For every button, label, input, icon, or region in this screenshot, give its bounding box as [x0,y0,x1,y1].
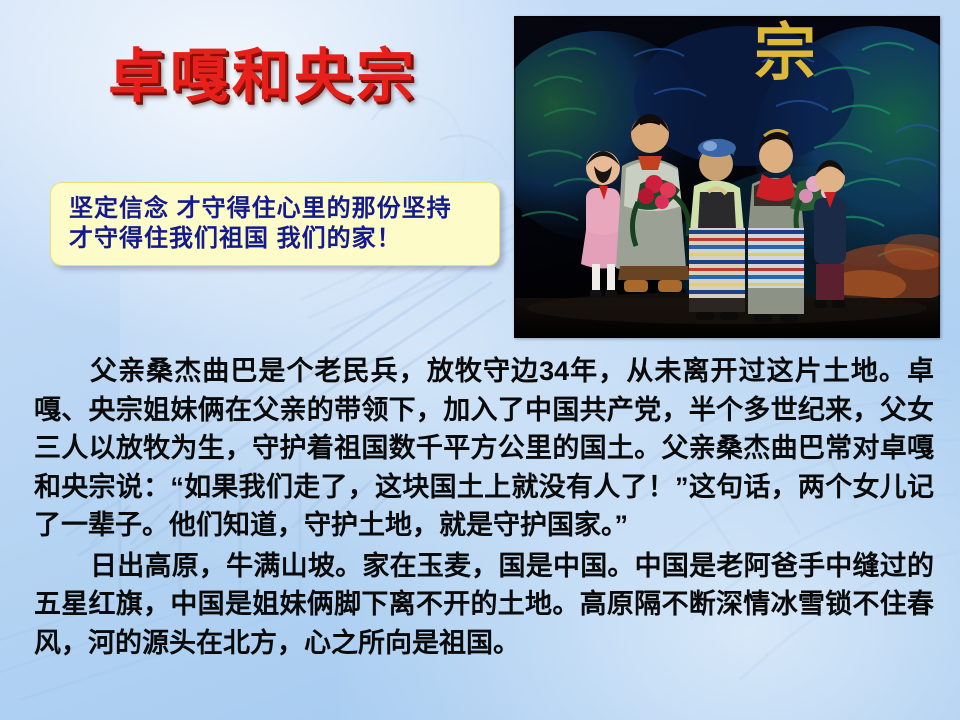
callout-line-1: 坚定信念 才守得住心里的那份坚持 [69,194,499,224]
photo-striped-apron-elder [689,228,745,312]
stage-photo-illustration: 宗 [514,16,940,338]
stage-photograph: 宗 [514,16,940,338]
page-title: 卓嘎和央宗 [108,48,418,106]
body-paragraph-2: 日出高原，牛满山坡。家在玉麦，国是中国。中国是老阿爸手中缝过的五星红旗，中国是姐… [34,547,934,663]
photo-striped-skirt-woman [748,228,804,314]
callout-line-2: 才守得住我们祖国 我们的家！ [69,224,499,254]
body-paragraph-1: 父亲桑杰曲巴是个老民兵，放牧守边34年，从未离开过这片土地。卓嘎、央宗姐妹俩在父… [34,352,934,545]
photo-person-boy-dark-jacket [814,160,846,308]
slide-canvas: 卓嘎和央宗 坚定信念 才守得住心里的那份坚持 才守得住我们祖国 我们的家！ [0,0,960,720]
stage-banner-character: 宗 [754,19,816,88]
quote-callout-box: 坚定信念 才守得住心里的那份坚持 才守得住我们祖国 我们的家！ [50,182,500,266]
body-text-block: 父亲桑杰曲巴是个老民兵，放牧守边34年，从未离开过这片土地。卓嘎、央宗姐妹俩在父… [34,352,934,662]
